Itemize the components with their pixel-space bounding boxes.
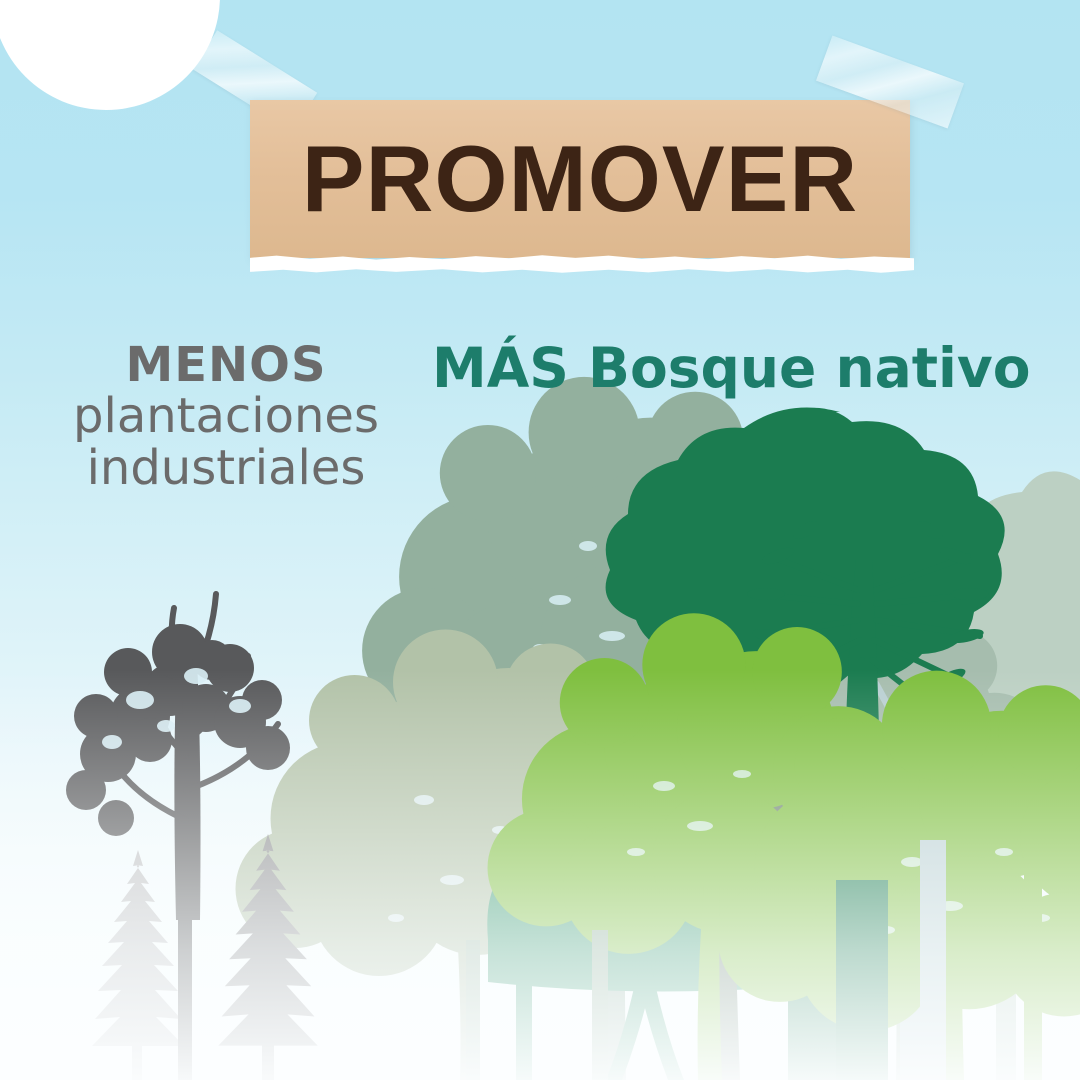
menos-line-2: plantaciones: [26, 391, 426, 442]
banner-paper: PROMOVER: [250, 100, 910, 258]
poster-canvas: PROMOVER MENOS plantaciones industriales…: [0, 0, 1080, 1080]
menos-heading: MENOS plantaciones industriales: [26, 340, 426, 494]
mas-heading: MÁS Bosque nativo: [432, 336, 1052, 400]
menos-line-1: MENOS: [26, 340, 426, 391]
banner-title: PROMOVER: [250, 100, 910, 258]
menos-line-3: industriales: [26, 443, 426, 494]
